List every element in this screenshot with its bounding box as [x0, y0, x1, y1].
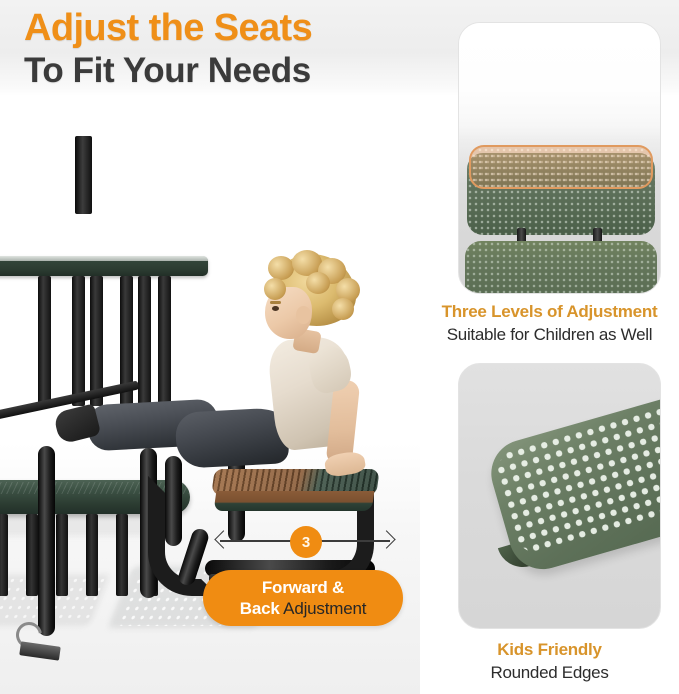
bench-leg	[116, 514, 128, 596]
bench-leg	[86, 514, 98, 596]
infographic-canvas: Adjust the Seats To Fit Your Needs	[0, 0, 679, 694]
child-ear	[296, 306, 311, 324]
page-title-line2: To Fit Your Needs	[24, 50, 444, 92]
callout-line1: Forward &	[262, 577, 344, 598]
adjustment-count-badge: 3	[290, 526, 322, 558]
child-hair-curl	[306, 272, 330, 294]
page-title-line1: Adjust the Seats	[24, 6, 444, 50]
child-hair-curl	[268, 256, 294, 280]
callout-line2-bold: Back	[240, 599, 280, 618]
callout-line2: Back Adjustment	[240, 598, 366, 620]
child-hair-curl	[332, 298, 354, 320]
bench-leg	[56, 514, 68, 596]
child-eyebrow	[270, 301, 281, 304]
frame-tube-vertical	[38, 446, 55, 636]
child-pants	[175, 407, 290, 469]
bench-leg	[0, 514, 8, 596]
seat-mesh-texture	[465, 241, 657, 294]
bench-leg	[26, 514, 38, 596]
leg-slat	[90, 276, 103, 406]
panel-glare-overlay	[459, 23, 660, 141]
leg-slat	[138, 276, 151, 406]
leg-slat	[38, 276, 51, 406]
leg-slat	[158, 276, 171, 406]
table-top-edge-highlight	[0, 256, 208, 261]
caption-subtitle: Suitable for Children as Well	[420, 323, 679, 347]
panel-kids-friendly-rounded-edges	[458, 363, 661, 629]
caption-title: Three Levels of Adjustment	[420, 300, 679, 323]
header-text-block: Adjust the Seats To Fit Your Needs	[24, 6, 444, 92]
callout-line2-rest: Adjustment	[280, 599, 367, 618]
child-eye	[272, 306, 279, 311]
caption-kids-friendly: Kids Friendly Rounded Edges	[420, 638, 679, 685]
adjustment-range-arrow: 3	[212, 528, 398, 554]
seat-support-post	[75, 136, 92, 214]
child-figure	[238, 254, 388, 484]
seat-front-edge	[214, 491, 375, 511]
caption-title: Kids Friendly	[420, 638, 679, 661]
seat-panel	[465, 241, 657, 294]
caption-subtitle: Rounded Edges	[420, 661, 679, 685]
table-top	[0, 256, 208, 276]
leg-slat	[72, 276, 85, 406]
main-product-photo: 3 Forward & Back Adjustment	[0, 96, 420, 694]
adjustment-level-highlight	[469, 145, 653, 189]
forward-back-adjustment-callout: Forward & Back Adjustment	[203, 570, 403, 626]
caption-three-levels: Three Levels of Adjustment Suitable for …	[420, 300, 679, 347]
arrow-head-left-icon	[214, 530, 232, 548]
arrow-head-right-icon	[377, 530, 395, 548]
panel-three-levels-of-adjustment	[458, 22, 661, 294]
highlight-mesh-texture	[471, 147, 651, 187]
anchor-plate	[19, 641, 61, 660]
seat-perforation-mesh	[491, 394, 661, 560]
child-hair-curl	[264, 278, 286, 300]
